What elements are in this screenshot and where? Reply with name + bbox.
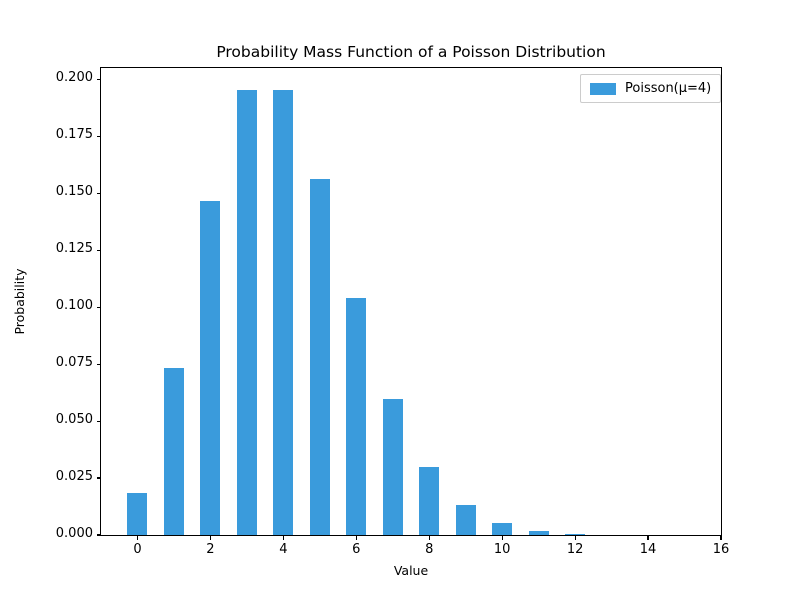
y-tick-mark — [97, 136, 102, 137]
legend: Poisson(μ=4) — [580, 74, 721, 103]
x-tick-mark — [429, 535, 430, 540]
bar — [346, 298, 366, 535]
x-tick-label: 8 — [407, 542, 451, 557]
y-tick-label: 0.150 — [56, 184, 93, 199]
bars-layer — [101, 68, 721, 535]
y-tick-mark — [97, 534, 102, 535]
y-tick-mark — [97, 477, 102, 478]
y-tick-label: 0.000 — [56, 526, 93, 541]
x-tick-mark — [575, 535, 576, 540]
y-tick-label: 0.075 — [56, 355, 93, 370]
x-tick-mark — [137, 535, 138, 540]
x-tick-label: 6 — [334, 542, 378, 557]
bar — [456, 505, 476, 535]
bar — [419, 467, 439, 535]
y-tick-label: 0.100 — [56, 298, 93, 313]
y-tick-mark — [97, 421, 102, 422]
y-tick-mark — [97, 79, 102, 80]
y-tick-mark — [97, 193, 102, 194]
y-tick-label: 0.050 — [56, 412, 93, 427]
x-tick-label: 16 — [699, 542, 743, 557]
x-tick-label: 2 — [188, 542, 232, 557]
x-tick-label: 12 — [553, 542, 597, 557]
bar — [310, 179, 330, 535]
figure-canvas: Probability Mass Function of a Poisson D… — [0, 0, 800, 600]
x-tick-label: 0 — [115, 542, 159, 557]
bar — [127, 493, 147, 535]
x-tick-mark — [720, 535, 721, 540]
y-tick-label: 0.125 — [56, 241, 93, 256]
y-tick-label: 0.200 — [56, 70, 93, 85]
chart-title: Probability Mass Function of a Poisson D… — [100, 43, 722, 61]
bar — [200, 201, 220, 535]
legend-swatch-poisson — [590, 83, 616, 95]
y-tick-label: 0.175 — [56, 127, 93, 142]
bar — [529, 531, 549, 535]
x-tick-label: 10 — [480, 542, 524, 557]
x-axis-label: Value — [100, 563, 722, 578]
y-tick-label: 0.025 — [56, 469, 93, 484]
bar — [273, 90, 293, 535]
plot-area: 0.0000.0250.0500.0750.1000.1250.1500.175… — [100, 67, 722, 536]
bar — [164, 368, 184, 535]
y-tick-mark — [97, 364, 102, 365]
y-tick-mark — [97, 250, 102, 251]
x-tick-label: 4 — [261, 542, 305, 557]
x-tick-mark — [210, 535, 211, 540]
y-axis-label: Probability — [10, 67, 30, 536]
y-tick-mark — [97, 307, 102, 308]
legend-label-poisson: Poisson(μ=4) — [625, 81, 711, 96]
x-tick-mark — [356, 535, 357, 540]
bar — [492, 523, 512, 535]
bar — [383, 399, 403, 535]
x-tick-mark — [647, 535, 648, 540]
x-tick-mark — [502, 535, 503, 540]
x-tick-mark — [283, 535, 284, 540]
x-tick-label: 14 — [626, 542, 670, 557]
bar — [237, 90, 257, 535]
